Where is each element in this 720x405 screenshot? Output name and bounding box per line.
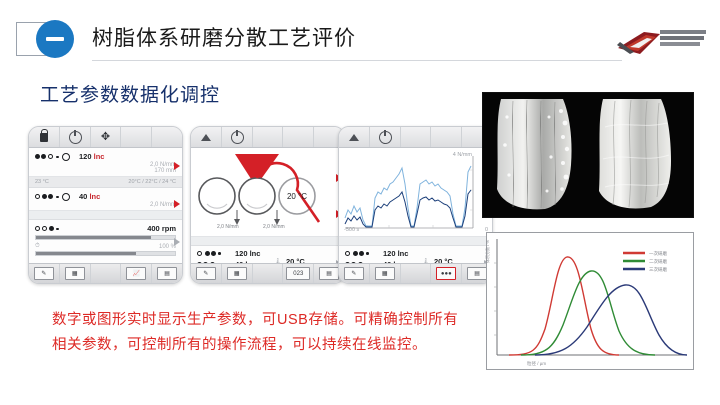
lock-icon[interactable] — [29, 127, 60, 147]
roller-dots-3 — [35, 223, 79, 234]
param-sub1-2: 2,0 N/mm — [35, 202, 176, 208]
header-divider — [92, 60, 622, 61]
counter-display[interactable]: 023 — [283, 264, 314, 283]
param-sub2-1: 170 mm — [35, 168, 176, 174]
param-value-1: 120 lnc — [79, 152, 104, 161]
panel2-spacer — [191, 237, 344, 246]
panel-trend-chart[interactable]: 4 N/mm -500 s 0 120 lnc — [338, 126, 493, 284]
keypad-icon[interactable]: ▦ — [370, 264, 401, 283]
speed-progress — [35, 235, 176, 240]
panel-parameters[interactable]: ✥ 120 lnc 2,0 N/mm 170 mm 23 °C 20°C / 2… — [28, 126, 183, 284]
brand-logo-wordmark — [660, 30, 706, 52]
toolbar-blank-9[interactable] — [431, 127, 462, 147]
panel3-spacer — [339, 237, 492, 246]
keypad-icon[interactable]: ▦ — [222, 264, 253, 283]
panel-roller-diagram[interactable]: 20 °C 2,0 N/mm 2,0 N/mm 120 lnc — [190, 126, 345, 284]
triangle-icon[interactable] — [339, 127, 370, 147]
minus-icon — [46, 37, 64, 41]
summary-value-1: 120 lnc — [235, 249, 260, 258]
chart-icon[interactable]: 📈 — [121, 264, 152, 283]
param-row-1[interactable]: 120 lnc 2,0 N/mm 170 mm — [29, 148, 182, 177]
power-icon[interactable] — [222, 127, 253, 147]
temp-right: 20°C / 22°C / 24 °C — [128, 179, 176, 185]
load-progress — [35, 251, 176, 256]
param-row-2[interactable]: 40 lnc 2,0 N/mm — [29, 188, 182, 211]
panel2-toolbar-bottom[interactable]: ✎ ▦ 023 ▤ — [191, 263, 344, 283]
roller-diagram: 20 °C 2,0 N/mm 2,0 N/mm — [191, 148, 344, 237]
roller-dots-2 — [35, 191, 79, 202]
toolbar-blank-8[interactable] — [401, 127, 432, 147]
summary-dots-4 — [345, 250, 383, 258]
roller-dots-1 — [35, 151, 79, 162]
force-label-left: 2,0 N/mm — [217, 224, 239, 230]
dist-y-axis-label: 体积分数 / % — [485, 240, 491, 263]
svg-text:一次研磨: 一次研磨 — [649, 250, 667, 257]
distribution-plot: 一次研磨 二次研磨 三次研磨 — [487, 233, 693, 369]
page-title: 树脂体系研磨分散工艺评价 — [92, 22, 356, 52]
force-label-right: 2,0 N/mm — [263, 224, 285, 230]
panel1-toolbar-top[interactable]: ✥ — [29, 127, 182, 148]
load-clock-icon: ⏱ — [35, 243, 40, 250]
toolbar-blank-7[interactable] — [253, 264, 284, 283]
toolbar-blank-4[interactable] — [253, 127, 284, 147]
power-icon[interactable] — [60, 127, 91, 147]
rollers-icon[interactable]: ●●● — [431, 264, 462, 283]
section-subtitle: 工艺参数数据化调控 — [40, 80, 220, 107]
settings-icon[interactable]: ▤ — [152, 264, 182, 283]
param-value-2: 40 lnc — [79, 192, 100, 201]
svg-text:20 °C: 20 °C — [287, 192, 307, 201]
temperature-bar: 23 °C 20°C / 22°C / 24 °C — [29, 177, 182, 188]
panel2-toolbar-top[interactable] — [191, 127, 344, 148]
particle-size-distribution-chart: 一次研磨 二次研磨 三次研磨 体积分数 / % 粒径 / µm — [486, 232, 694, 370]
toolbar-blank-5[interactable] — [283, 127, 314, 147]
panel1-spacer — [29, 211, 182, 220]
edit-icon[interactable]: ✎ — [191, 264, 222, 283]
panel3-toolbar-bottom[interactable]: ✎ ▦ ●●● ▤ — [339, 263, 492, 283]
expand-arrow-3[interactable] — [174, 238, 180, 246]
edit-icon[interactable]: ✎ — [339, 264, 370, 283]
panel3-toolbar-top[interactable] — [339, 127, 492, 148]
temp-left: 23 °C — [35, 179, 49, 185]
sem-micrograph — [482, 92, 694, 218]
chart-top-label: 4 N/mm — [453, 152, 472, 158]
summary-dots-1 — [197, 250, 235, 258]
trend-chart: 4 N/mm -500 s 0 — [339, 148, 492, 237]
keypad-icon[interactable]: ▦ — [60, 264, 91, 283]
counter-value: 023 — [286, 267, 310, 280]
toolbar-blank-1[interactable] — [121, 127, 152, 147]
power-icon[interactable] — [370, 127, 401, 147]
toolbar-blank-11[interactable] — [401, 264, 432, 283]
move-icon[interactable]: ✥ — [91, 127, 122, 147]
edit-icon[interactable]: ✎ — [29, 264, 60, 283]
toolbar-blank-2[interactable] — [152, 127, 182, 147]
chart-left-label: -500 s — [344, 227, 359, 233]
svg-text:三次研磨: 三次研磨 — [649, 266, 667, 273]
dist-x-axis-label: 粒径 / µm — [527, 361, 546, 367]
panel1-toolbar-bottom[interactable]: ✎ ▦ 📈 ▤ — [29, 263, 182, 283]
summary-value-4: 120 lnc — [383, 249, 408, 258]
triangle-icon[interactable] — [191, 127, 222, 147]
expand-arrow-2[interactable] — [174, 200, 180, 208]
slide-header: 树脂体系研磨分散工艺评价 — [0, 0, 720, 68]
expand-arrow-1[interactable] — [174, 162, 180, 170]
speed-value: 400 rpm — [147, 224, 176, 233]
slide-caption: 数字或图形实时显示生产参数，可USB存储。可精确控制所有相关参数，可控制所有的操… — [52, 308, 472, 359]
toolbar-blank-3[interactable] — [91, 264, 122, 283]
speed-row[interactable]: 400 rpm ⏱ 100 % — [29, 220, 182, 261]
svg-text:二次研磨: 二次研磨 — [649, 258, 667, 265]
